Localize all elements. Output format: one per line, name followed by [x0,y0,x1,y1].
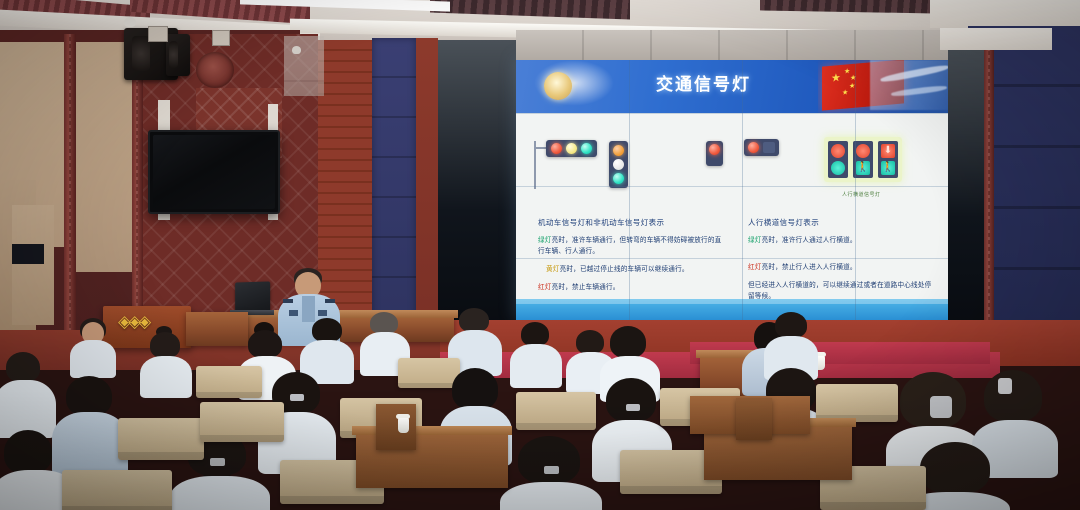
led-seam-v1 [629,58,630,320]
audience-hair-2 [150,332,180,358]
pedestrian-signal-3: ⬇ 🚶 [878,141,898,178]
slide-right-t2: 亮时，禁止行人进入人行横道。 [762,263,857,271]
pedestrian-signal-2: 🚶 [853,141,873,178]
chair-r2-2 [200,402,284,442]
lamp-red-icon-v [613,145,624,156]
audience-hair-18 [984,370,1042,422]
wall-box-right [212,30,230,46]
audience-hair-6 [459,308,489,332]
audience-body-20 [170,476,270,510]
audience-hair-9 [610,326,646,358]
chair-r2-4 [516,392,596,430]
wall-mounted-tv [148,130,280,214]
wall-grey-above-screen [516,30,968,60]
wall-grey-upper [284,36,324,96]
ceiling-speaker-icon-2 [166,34,190,76]
ped-lamp-red-icon [831,144,845,158]
audience-hair-clip-13 [290,394,304,401]
lamp-red-icon-m2 [748,142,759,153]
audience-hair-clip-17 [930,396,952,418]
slide-left-t3: 亮时，禁止车辆通行。 [552,283,620,291]
audience-body-2 [140,356,192,398]
signal-pole-mast [534,141,536,189]
led-seam-h3 [516,258,968,259]
slide-title: 交通信号灯 [656,70,751,95]
audience-person-11 [0,352,56,432]
audience-body-21 [500,482,602,510]
wall-emblem-icon [196,52,234,88]
audience-person-2 [140,330,192,392]
slide-right-t3: 但已经进入人行横道的，可以继续通过或者在道路中心线处停留等候。 [748,281,931,300]
slide-left-heading: 机动车信号灯和非机动车信号灯表示 [538,217,728,228]
ped-walk-figure-icon-2: 🚶 [881,161,895,175]
slide-left-kw2: 黄灯 [546,265,560,273]
pedestrian-signal-1 [828,141,848,178]
lamp-green-icon [581,143,592,154]
flag-star-4: ★ [842,89,848,97]
led-seam-v2 [742,58,743,320]
pedestrian-signal-group: 🚶 ⬇ 🚶 [824,137,902,182]
slide-column-right: 人行横道信号灯表示 绿灯亮时，准许行人通过人行横道。 红灯亮时，禁止行人进入人行… [748,217,938,309]
ped-lamp-red-icon-2 [856,144,870,158]
slide-right-t1: 亮时，准许行人通过人行横道。 [762,236,857,244]
slide-left-kw3: 红灯 [538,283,552,291]
wall-red-mid [416,38,438,338]
audience-hair-14 [452,368,498,410]
vehicle-signal-horizontal [546,140,597,157]
presenter-badge [289,310,298,316]
podium-gold-emblem-icon: ◈◈◈ [118,312,148,332]
wall-vent-left [12,244,44,264]
audience-person-21 [500,436,602,510]
wood-column-1 [64,34,76,334]
audience-body-7 [510,344,562,388]
presenter-shoulder-board-l [283,299,293,303]
wall-dark-glass-right [948,48,984,330]
audience-hair-clip-18 [998,378,1012,394]
ped-lamp-green-icon [831,161,845,175]
audience-hair-clip-15 [626,404,640,411]
chair-r1-1 [196,366,262,398]
slide-left-p2: 黄灯亮时，已越过停止线的车辆可以继续通行。 [538,264,728,275]
chair-r2-6 [816,384,898,422]
slide-left-p3: 红灯亮时，禁止车辆通行。 [538,282,728,293]
audience-hair-3 [248,330,282,358]
audience-hair-5 [370,312,398,334]
slide-right-p2: 红灯亮时，禁止行人进入人行横道。 [748,262,938,273]
flag-star-big: ★ [831,73,841,85]
slide-right-heading: 人行横道信号灯表示 [748,217,938,228]
audience-hair-22 [920,442,990,494]
chair-front-1 [62,470,172,510]
lamp-red-icon [551,143,562,154]
audience-hair-7 [521,322,549,346]
police-emblem-icon [544,72,572,100]
audience-hair-clip-20 [210,458,225,466]
ceiling-slab-right [930,0,1080,28]
slide-left-kw1: 绿灯 [538,236,552,244]
audience-hair-21 [518,436,580,484]
audience-hair-12 [66,376,112,416]
led-video-wall: 交通信号灯 ★ ★ ★ ★ ★ [516,58,968,320]
nonmotor-signal-a [706,141,723,166]
wall-navy-panel-left [372,38,416,338]
audience-hair-4 [312,318,342,342]
audience-hair-10 [775,312,807,338]
flag-area: ★ ★ ★ ★ ★ [818,58,968,113]
slide-left-t2: 亮时，已越过停止线的车辆可以继续通行。 [560,265,689,273]
bench-leg-2 [736,398,772,440]
lecture-hall-photo: 交通信号灯 ★ ★ ★ ★ ★ [0,0,1080,510]
slide-left-p1: 绿灯亮时，准许车辆通行，但转弯的车辆不得妨碍被放行的直行车辆、行人通行。 [538,235,728,257]
lamp-green-icon-v [613,173,624,184]
wall-panel-beige-3 [12,205,54,325]
signal-blank-cell [763,142,775,153]
slide-right-kw2: 红灯 [748,263,762,271]
presenter-pocket [318,310,327,316]
led-seam-h2 [516,186,968,187]
vehicle-signal-vertical [609,141,628,188]
pedestrian-caption: 人行横道信号灯 [842,191,881,198]
audience-hair-clip-21 [544,466,559,474]
tea-cup-2 [398,418,409,433]
slide-right-p1: 绿灯亮时，准许行人通过人行横道。 [748,235,938,246]
audience-person-4 [300,318,354,378]
chair-r2-1 [118,418,204,460]
bench-leg-1 [376,404,416,450]
wood-column-right [984,48,994,330]
led-seam-h1 [516,113,968,114]
audience-body-1 [70,340,116,378]
slide-right-kw1: 绿灯 [748,236,762,244]
audience-person-10 [764,312,818,374]
audience-person-7 [510,322,562,382]
ceiling-slab-far-right [940,28,1052,50]
led-seam-v3 [855,58,856,320]
lamp-red-icon-m1 [709,144,720,155]
wall-dark-glass [438,40,516,325]
lamp-yellow-icon [566,143,577,154]
audience-hair-15 [606,378,656,422]
audience-hair-11 [6,352,40,382]
dome-camera-icon [124,17,136,27]
signal-sub-label-a [714,158,715,163]
lamp-off-icon-v [613,159,624,170]
wall-mounting-bracket [148,26,168,42]
ped-walk-figure-icon: 🚶 [856,161,870,175]
presenter-shoulder-board-r [325,299,335,303]
ped-stand-figure-icon: ⬇ [881,144,895,158]
nonmotor-signal-b [744,139,779,156]
audience-person-1 [70,318,116,374]
audience-hair-19 [4,430,52,474]
presenter-laptop [235,281,270,312]
